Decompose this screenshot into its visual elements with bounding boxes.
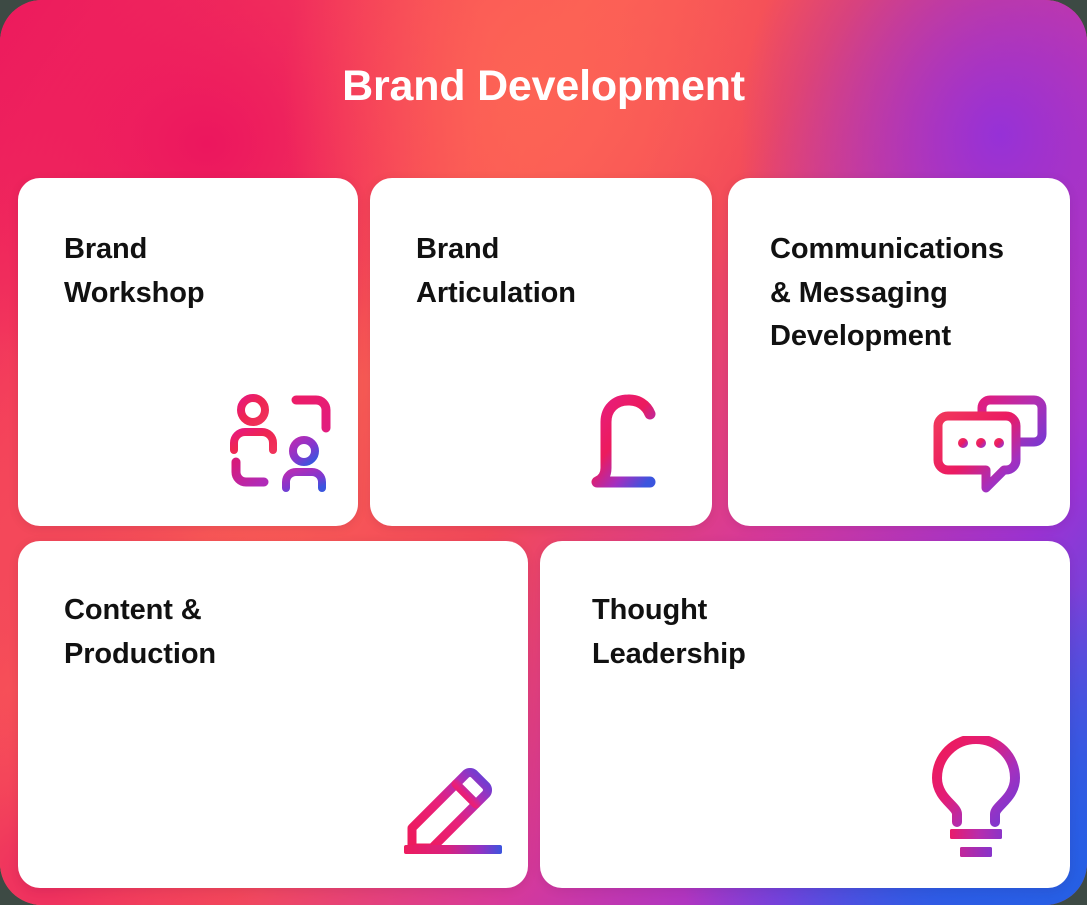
lightbulb-icon <box>924 736 1028 858</box>
chat-bubbles-icon <box>932 386 1048 498</box>
people-group-icon <box>224 384 344 498</box>
card-title: Brand Workshop <box>64 228 204 315</box>
pound-sterling-icon <box>576 388 672 500</box>
card-title: Brand Articulation <box>416 228 576 315</box>
card-title: Communications & Messaging Development <box>770 228 1004 359</box>
card-brand-workshop[interactable]: Brand Workshop <box>18 178 358 526</box>
card-thought-leadership[interactable]: Thought Leadership <box>540 541 1070 888</box>
card-communications-messaging-development[interactable]: Communications & Messaging Development <box>728 178 1070 526</box>
page-title: Brand Development <box>0 64 1087 109</box>
card-title: Thought Leadership <box>592 589 746 676</box>
slide-canvas: Brand Development Brand Workshop <box>0 0 1087 905</box>
card-title: Content & Production <box>64 589 216 676</box>
card-content-production[interactable]: Content & Production <box>18 541 528 888</box>
pencil-edit-icon <box>398 750 508 858</box>
card-brand-articulation[interactable]: Brand Articulation <box>370 178 712 526</box>
